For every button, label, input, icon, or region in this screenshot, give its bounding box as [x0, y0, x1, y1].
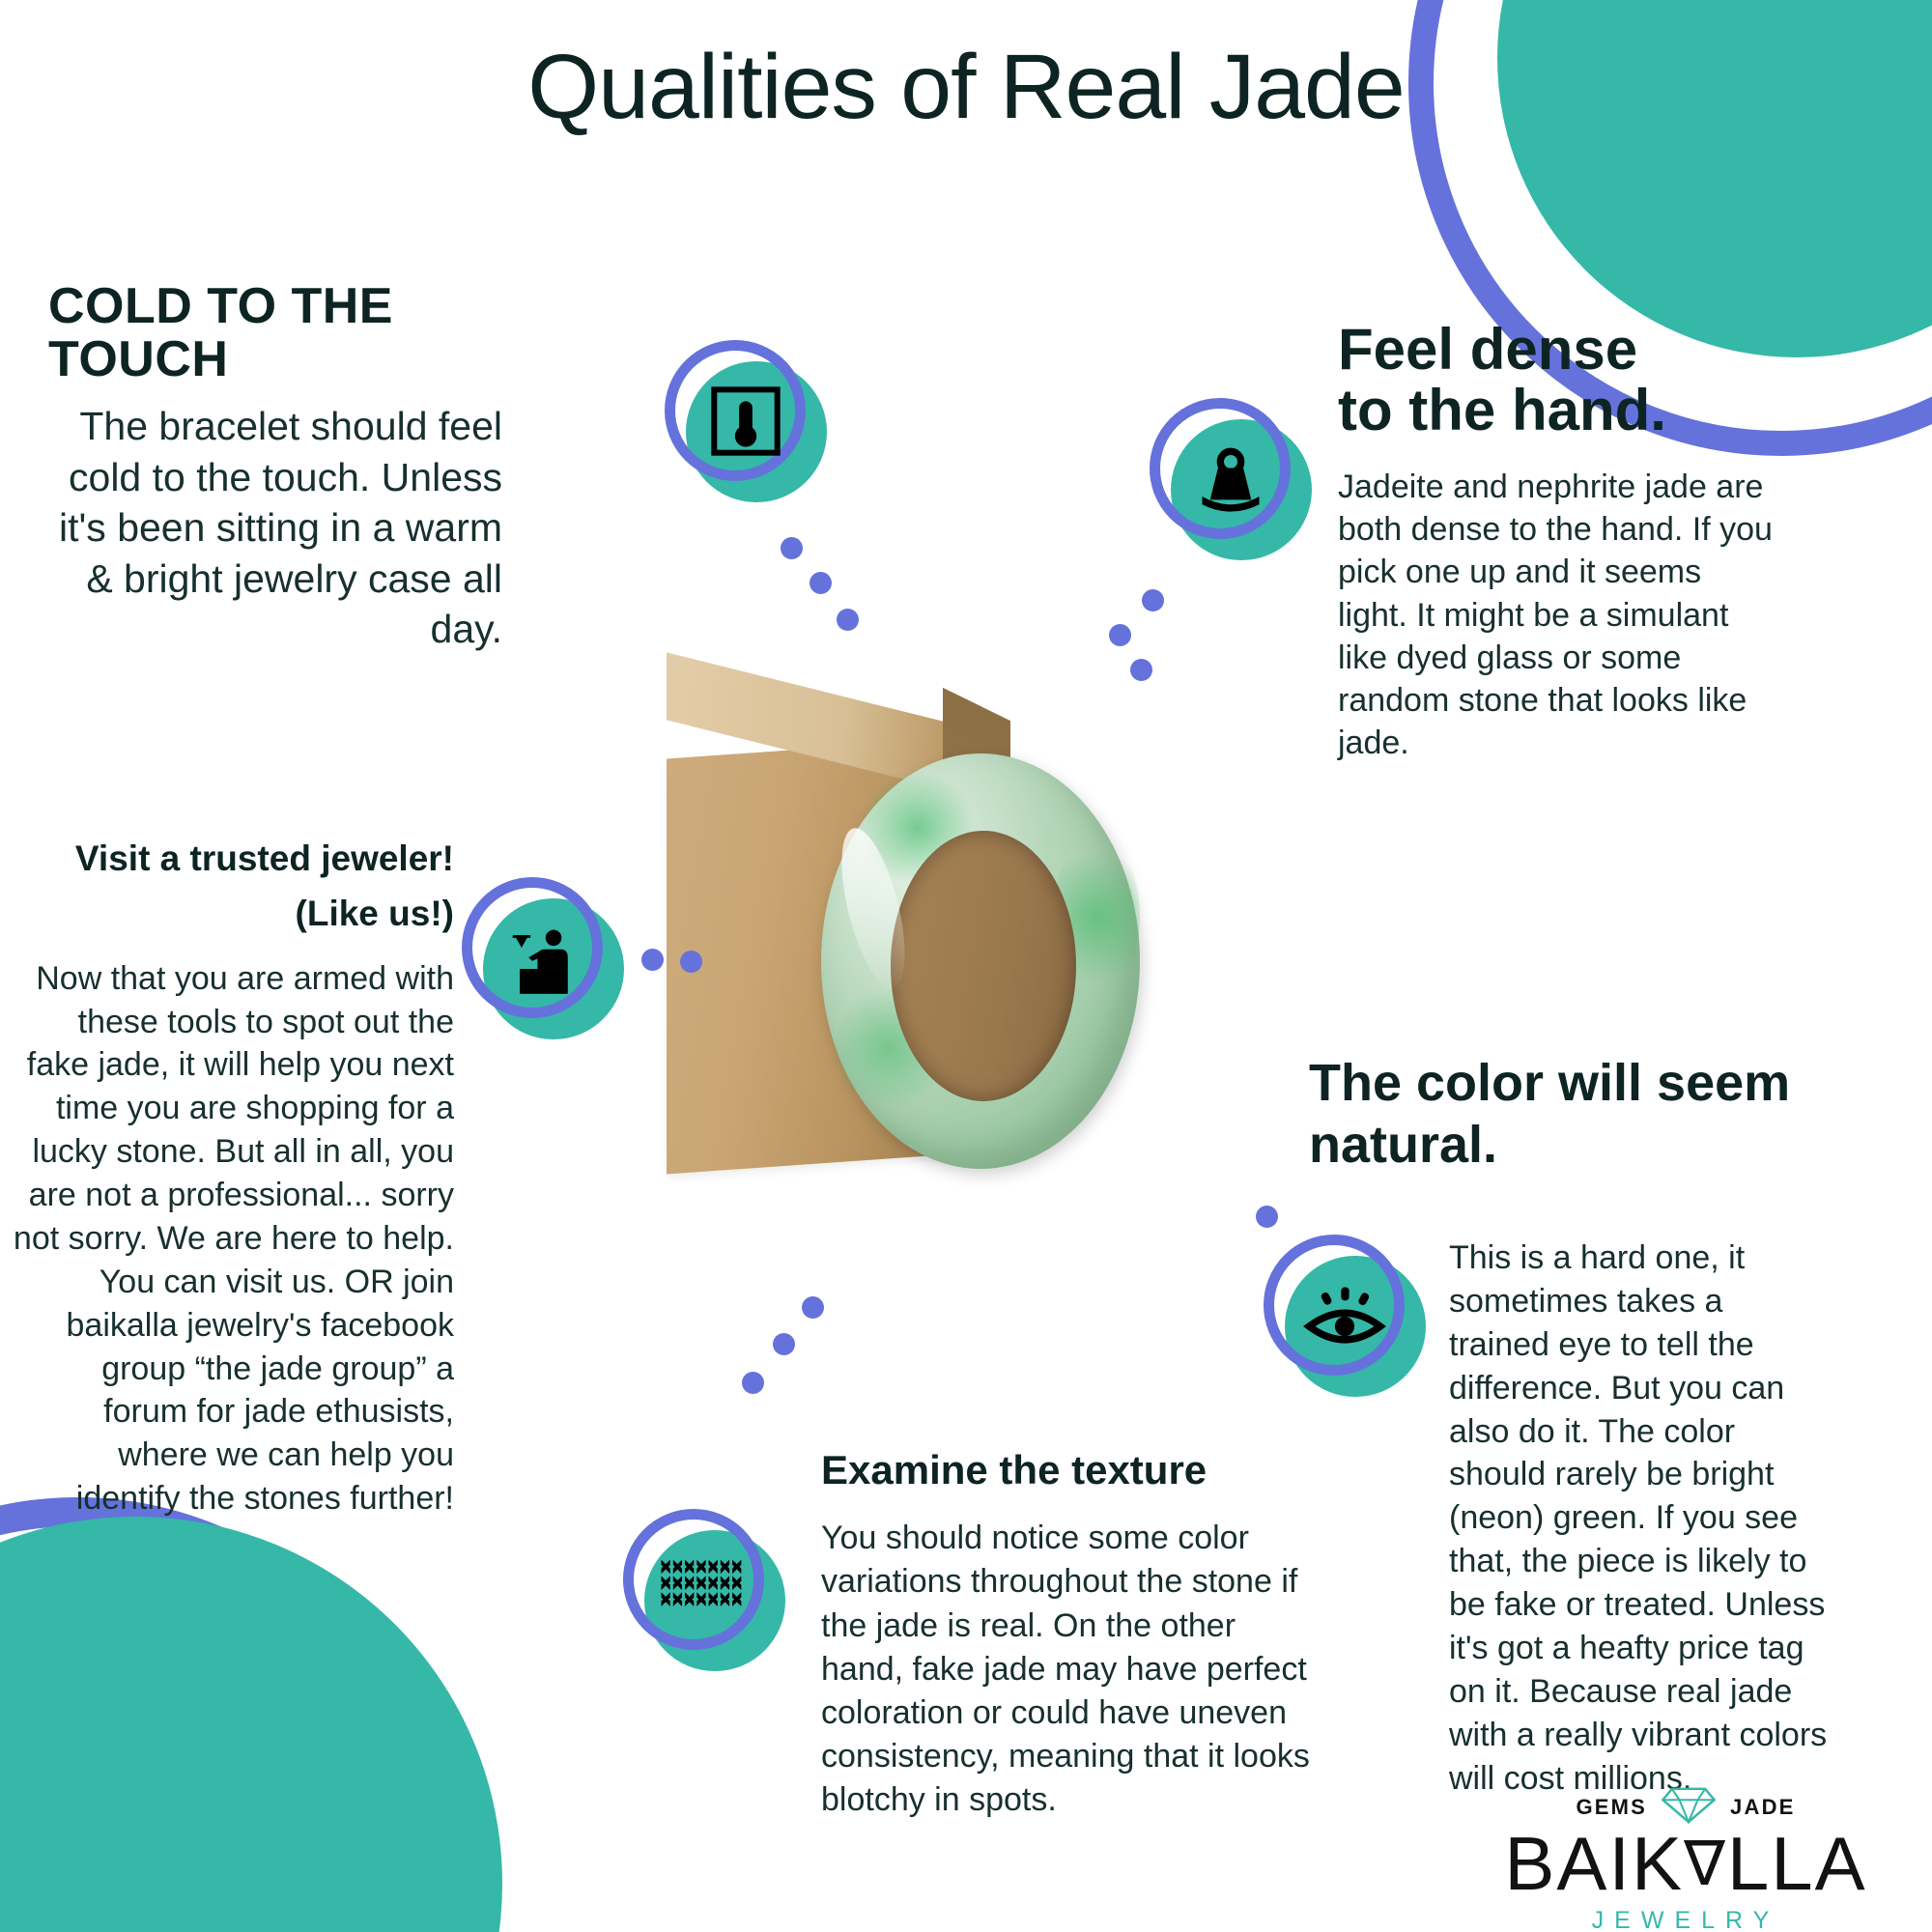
- section-heading-cold: COLD TO THE TOUCH: [48, 280, 502, 385]
- logo-gems-label: GEMS: [1576, 1795, 1647, 1820]
- thermometer-icon: [665, 340, 827, 502]
- trail-dot: [1130, 659, 1152, 681]
- section-cold-to-the-touch: COLD TO THE TOUCH The bracelet should fe…: [48, 280, 502, 655]
- section-body-cold: The bracelet should feel cold to the tou…: [48, 401, 502, 654]
- badge-texture[interactable]: [623, 1509, 785, 1671]
- section-heading-dense-line1: Feel dense: [1338, 319, 1773, 380]
- section-heading-texture: Examine the texture: [821, 1449, 1323, 1492]
- trail-dot: [802, 1296, 824, 1319]
- section-body-jeweler: Now that you are armed with these tools …: [10, 957, 454, 1520]
- infographic-canvas: Qualities of Real Jade COLD TO THE TOUCH…: [0, 0, 1932, 1932]
- bottom-left-purple-arc: [0, 1497, 444, 1932]
- trail-dot: [1109, 624, 1131, 646]
- trail-dot: [1142, 589, 1164, 611]
- section-body-color: This is a hard one, it sometimes takes a…: [1449, 1236, 1831, 1800]
- trail-dot: [1256, 1206, 1278, 1228]
- section-body-dense: Jadeite and nephrite jade are both dense…: [1338, 466, 1773, 764]
- logo-tagline: JEWELRY: [1478, 1907, 1893, 1932]
- section-heading-jeweler-line2: (Like us!): [10, 886, 454, 941]
- badge-jeweler[interactable]: [462, 877, 624, 1039]
- badge-eye[interactable]: [1264, 1235, 1426, 1397]
- badge-thermometer[interactable]: [665, 340, 827, 502]
- section-visit-jeweler: Visit a trusted jeweler! (Like us!) Now …: [10, 831, 454, 1520]
- section-examine-texture: Examine the texture You should notice so…: [821, 1449, 1323, 1823]
- section-feel-dense: Feel dense to the hand. Jadeite and neph…: [1338, 319, 1773, 764]
- trail-dot: [810, 572, 832, 594]
- section-heading-jeweler-line1: Visit a trusted jeweler!: [10, 831, 454, 886]
- section-body-texture: You should notice some color variations …: [821, 1517, 1323, 1823]
- bottom-left-teal-circle-back: [0, 1604, 386, 1932]
- logo-jade-label: JADE: [1730, 1795, 1796, 1820]
- section-color-natural: The color will seem natural. This is a h…: [1309, 1053, 1850, 1176]
- logo-brand-a-glyph: ∇: [1684, 1833, 1727, 1894]
- weight-icon: [1150, 398, 1312, 560]
- trail-dot: [773, 1333, 795, 1355]
- bottom-left-teal-circle: [0, 1517, 502, 1932]
- eye-icon: [1264, 1235, 1426, 1397]
- weave-texture-icon: [623, 1509, 785, 1671]
- section-heading-dense-line2: to the hand.: [1338, 380, 1773, 440]
- logo-brand-part2: LLA: [1727, 1826, 1867, 1901]
- page-title: Qualities of Real Jade: [0, 35, 1932, 140]
- trail-dot: [641, 949, 664, 971]
- section-heading-color-line1: The color will seem: [1309, 1053, 1850, 1115]
- logo-brand-part1: BAIK: [1504, 1826, 1684, 1901]
- jade-bangle-photo: [667, 710, 1130, 1251]
- jeweler-counter-icon: [462, 877, 624, 1039]
- brand-logo[interactable]: GEMS JADE BAIK ∇ LLA JEWELRY: [1478, 1785, 1893, 1932]
- trail-dot: [680, 951, 702, 973]
- trail-dot: [837, 609, 859, 631]
- trail-dot: [742, 1372, 764, 1394]
- badge-weight[interactable]: [1150, 398, 1312, 560]
- section-heading-color-line2: natural.: [1309, 1115, 1850, 1177]
- logo-brand-name: BAIK ∇ LLA: [1478, 1826, 1893, 1901]
- trail-dot: [781, 537, 803, 559]
- jade-bangle-opening: [891, 831, 1076, 1101]
